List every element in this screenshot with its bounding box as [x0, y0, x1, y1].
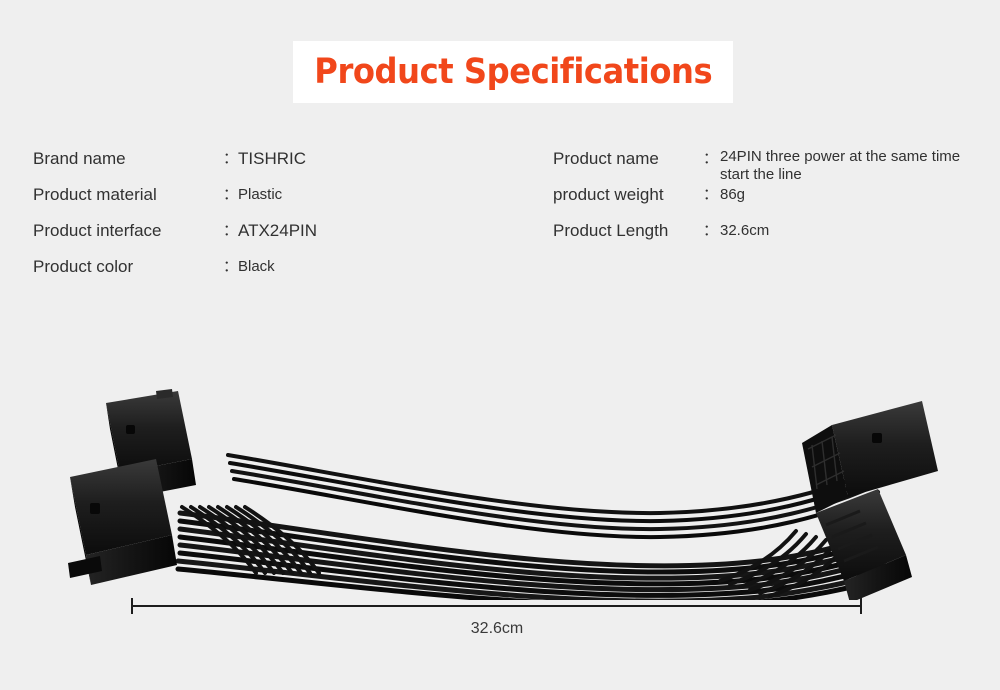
spec-separator: ： — [223, 220, 238, 242]
spec-row-product-length: Product Length ： 32.6cm — [553, 220, 993, 256]
spec-value-product-weight: 86g — [720, 184, 745, 206]
spec-row-product-material: Product material ： Plastic — [33, 184, 363, 220]
spec-row-product-weight: product weight ： 86g — [553, 184, 993, 220]
spec-separator: ： — [223, 256, 238, 278]
page-title: Product Specifications — [314, 52, 712, 92]
dimension-bar — [131, 605, 862, 607]
spec-separator: ： — [703, 148, 718, 170]
spec-label-product-length: Product Length — [553, 220, 668, 242]
spec-value-product-interface: ATX24PIN — [238, 220, 317, 242]
spec-value-brand-name: TISHRIC — [238, 148, 306, 170]
spec-value-product-length: 32.6cm — [720, 220, 769, 242]
spec-separator: ： — [223, 184, 238, 206]
spec-separator: ： — [223, 148, 238, 170]
specifications-table: Brand name ： TISHRIC Product material ： … — [0, 148, 1000, 308]
spec-separator: ： — [703, 220, 718, 242]
dimension-label-wrapper: 32.6cm — [0, 620, 1000, 638]
spec-label-product-interface: Product interface — [33, 220, 162, 242]
spec-label-brand-name: Brand name — [33, 148, 126, 170]
wire-bundle-upper — [228, 455, 878, 537]
dimension-label: 32.6cm — [471, 620, 523, 638]
spec-row-brand-name: Brand name ： TISHRIC — [33, 148, 363, 184]
spec-label-product-weight: product weight — [553, 184, 664, 206]
spec-value-product-color: Black — [238, 256, 275, 278]
spec-value-product-name: 24PIN three power at the same time start… — [720, 148, 980, 184]
spec-row-product-name: Product name ： 24PIN three power at the … — [553, 148, 993, 184]
title-banner: Product Specifications — [293, 41, 733, 103]
dimension-line — [131, 598, 862, 614]
product-photo — [60, 385, 940, 600]
spec-row-product-interface: Product interface ： ATX24PIN — [33, 220, 363, 256]
spec-label-product-material: Product material — [33, 184, 157, 206]
spec-column-right: Product name ： 24PIN three power at the … — [553, 148, 993, 256]
spec-label-product-color: Product color — [33, 256, 133, 278]
spec-value-product-material: Plastic — [238, 184, 282, 206]
dimension-cap-right — [860, 598, 862, 614]
product-cable-illustration — [60, 385, 940, 600]
spec-separator: ： — [703, 184, 718, 206]
spec-label-product-name: Product name — [553, 148, 659, 170]
spec-column-left: Brand name ： TISHRIC Product material ： … — [33, 148, 363, 292]
spec-row-product-color: Product color ： Black — [33, 256, 363, 292]
